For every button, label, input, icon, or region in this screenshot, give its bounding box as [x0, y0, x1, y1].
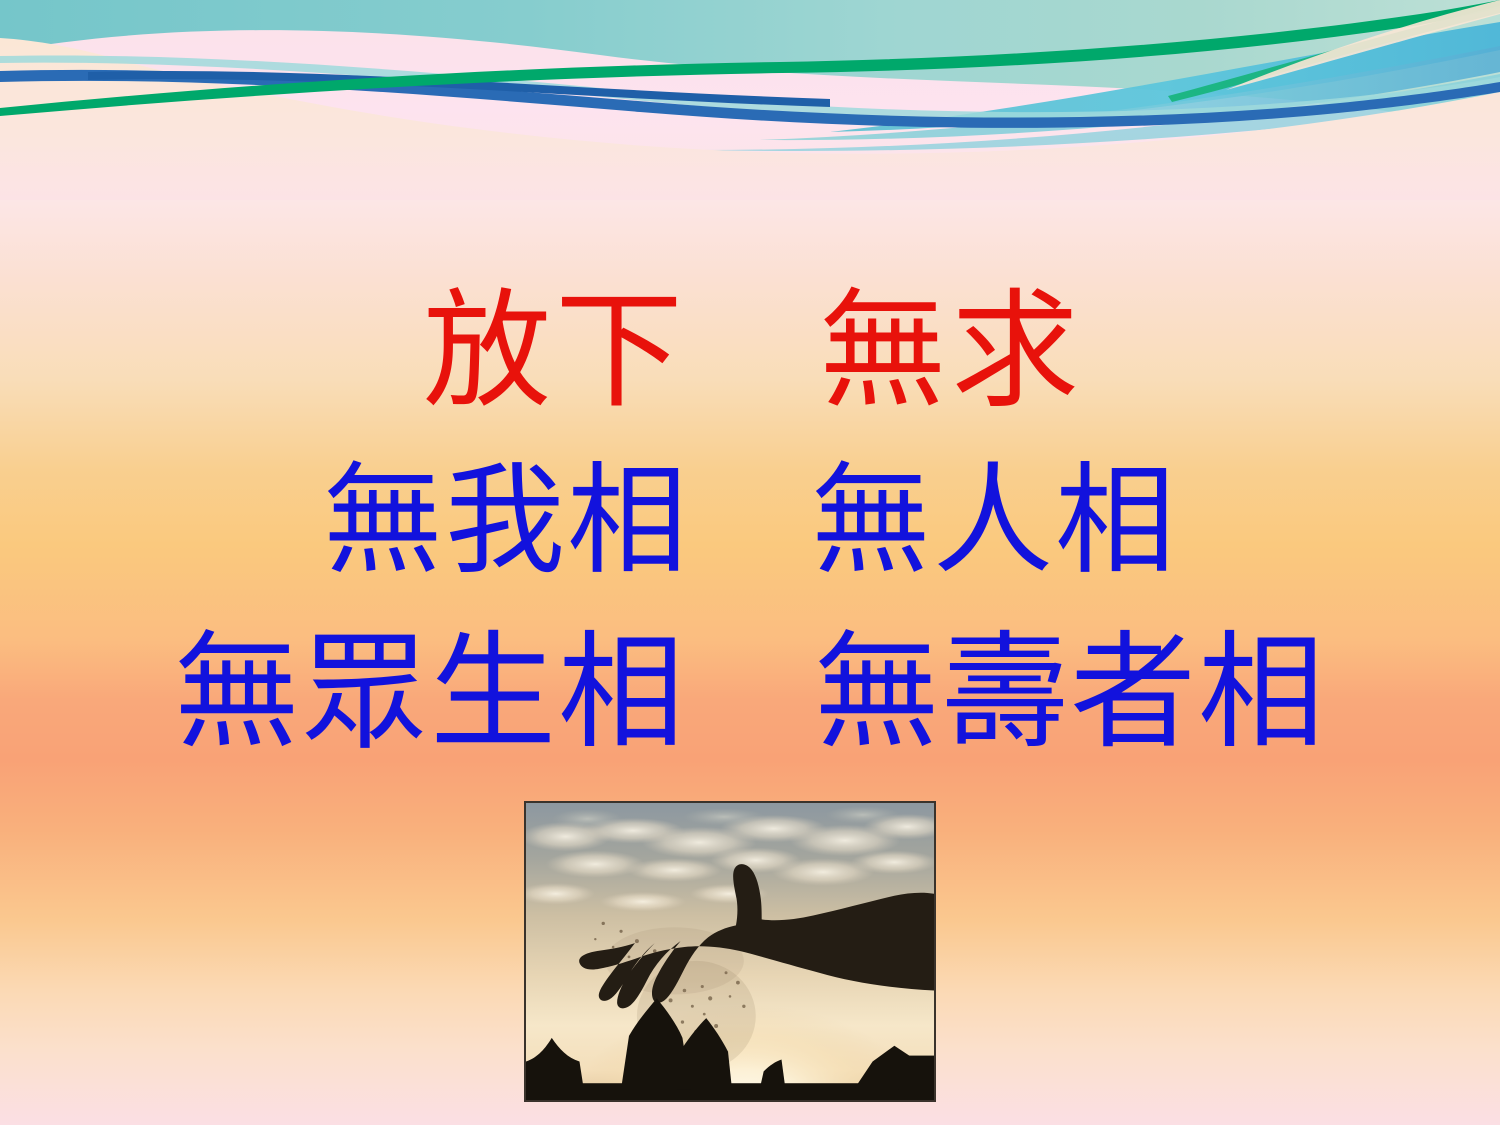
hand-releasing-sand-photo — [524, 801, 936, 1102]
banner-cream-sliver — [1226, 0, 1500, 90]
banner-blue-line — [0, 70, 1500, 128]
banner-blue-accent — [88, 71, 830, 107]
poem-line-three: 無眾生相 無壽者相 — [0, 632, 1500, 758]
poem-line-title: 放下 無求 — [0, 288, 1500, 416]
banner-cream-swoosh — [0, 38, 1500, 200]
banner-pale-teal-line — [0, 55, 1500, 120]
photo-artwork — [526, 803, 934, 1100]
banner-green-line — [0, 0, 1500, 116]
banner-cyan-band-a — [830, 22, 1500, 132]
banner-green-line-echo — [1168, 6, 1500, 102]
slide-canvas: 放下 無求 無我相 無人相 無眾生相 無壽者相 — [0, 0, 1500, 1125]
banner-teal-field — [0, 0, 1500, 130]
banner-cyan-band-c — [700, 74, 1500, 151]
poem-line-two: 無我相 無人相 — [0, 462, 1500, 582]
banner-cyan-band-b — [760, 46, 1500, 140]
decorative-swoosh-banner — [0, 0, 1500, 200]
